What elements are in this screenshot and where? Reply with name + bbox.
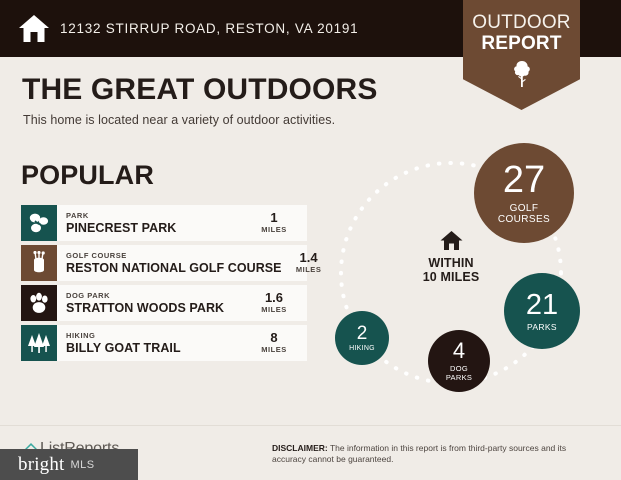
list-item-name: BILLY GOAT TRAIL <box>66 341 247 355</box>
outdoor-report-badge: OUTDOOR REPORT <box>463 0 580 110</box>
center-line-2: 10 MILES <box>396 270 506 284</box>
house-icon <box>18 13 50 44</box>
stat-circle-hiking: 2 HIKING <box>335 311 389 365</box>
list-item[interactable]: HIKING BILLY GOAT TRAIL 8 MILES <box>21 325 307 361</box>
center-line-1: WITHIN <box>396 256 506 270</box>
center-label: WITHIN 10 MILES <box>396 230 506 284</box>
popular-list: PARK PINECREST PARK 1 MILES GOLF COURSE <box>21 205 307 365</box>
bright-wordmark: bright <box>0 454 65 476</box>
stat-value: 21 <box>526 291 558 320</box>
stat-value: 27 <box>503 161 545 199</box>
list-item-name: STRATTON WOODS PARK <box>66 301 247 315</box>
tree-icon <box>512 60 532 88</box>
stat-value: 2 <box>357 324 368 343</box>
mls-wordmark: MLS <box>65 459 95 471</box>
disclaimer: DISCLAIMER: The information in this repo… <box>272 443 602 465</box>
stat-label-line1: GOLF <box>510 203 539 215</box>
stat-circle-dog-parks: 4 DOG PARKS <box>428 330 490 392</box>
park-icon <box>21 205 57 241</box>
footer-divider <box>0 425 621 426</box>
stat-label-line1: PARKS <box>527 323 557 332</box>
list-item-distance: 8 <box>270 331 277 345</box>
list-item-unit: MILES <box>261 345 287 355</box>
stat-value: 4 <box>453 340 465 362</box>
stat-label-line2: COURSES <box>498 214 550 226</box>
badge-line-1: OUTDOOR <box>463 12 580 34</box>
list-item-name: PINECREST PARK <box>66 221 247 235</box>
disclaimer-label: DISCLAIMER: <box>272 443 328 453</box>
property-address: 12132 STIRRUP ROAD, RESTON, VA 20191 <box>60 21 358 36</box>
paw-icon <box>21 285 57 321</box>
bright-mls-watermark: bright MLS <box>0 449 138 480</box>
pine-trees-icon <box>21 325 57 361</box>
list-item-distance: 1.4 <box>300 251 318 265</box>
list-item-distance: 1.6 <box>265 291 283 305</box>
list-item[interactable]: DOG PARK STRATTON WOODS PARK 1.6 MILES <box>21 285 307 321</box>
stat-label-line1: DOG <box>450 364 468 373</box>
list-item-category: HIKING <box>66 331 247 341</box>
list-item-category: DOG PARK <box>66 291 247 301</box>
list-item-distance: 1 <box>270 211 277 225</box>
section-title-popular: POPULAR <box>21 160 154 191</box>
page-title: THE GREAT OUTDOORS <box>22 73 377 107</box>
list-item-name: RESTON NATIONAL GOLF COURSE <box>66 261 282 275</box>
list-item-unit: MILES <box>261 225 287 235</box>
stat-label-line1: HIKING <box>349 345 375 352</box>
golf-bag-icon <box>21 245 57 281</box>
house-icon <box>396 230 506 251</box>
badge-line-2: REPORT <box>463 33 580 55</box>
list-item-category: PARK <box>66 211 247 221</box>
stat-circle-golf-courses: 27 GOLF COURSES <box>474 143 574 243</box>
list-item-category: GOLF COURSE <box>66 251 282 261</box>
stat-label-line2: PARKS <box>446 373 472 382</box>
stat-circle-parks: 21 PARKS <box>504 273 580 349</box>
list-item-unit: MILES <box>261 305 287 315</box>
page-subtitle: This home is located near a variety of o… <box>23 113 335 127</box>
outdoor-report-page: 12132 STIRRUP ROAD, RESTON, VA 20191 OUT… <box>0 0 621 480</box>
within-10-miles-infographic: 27 GOLF COURSES 21 PARKS 4 DOG PARKS 2 H… <box>318 130 618 420</box>
list-item[interactable]: PARK PINECREST PARK 1 MILES <box>21 205 307 241</box>
list-item[interactable]: GOLF COURSE RESTON NATIONAL GOLF COURSE … <box>21 245 307 281</box>
